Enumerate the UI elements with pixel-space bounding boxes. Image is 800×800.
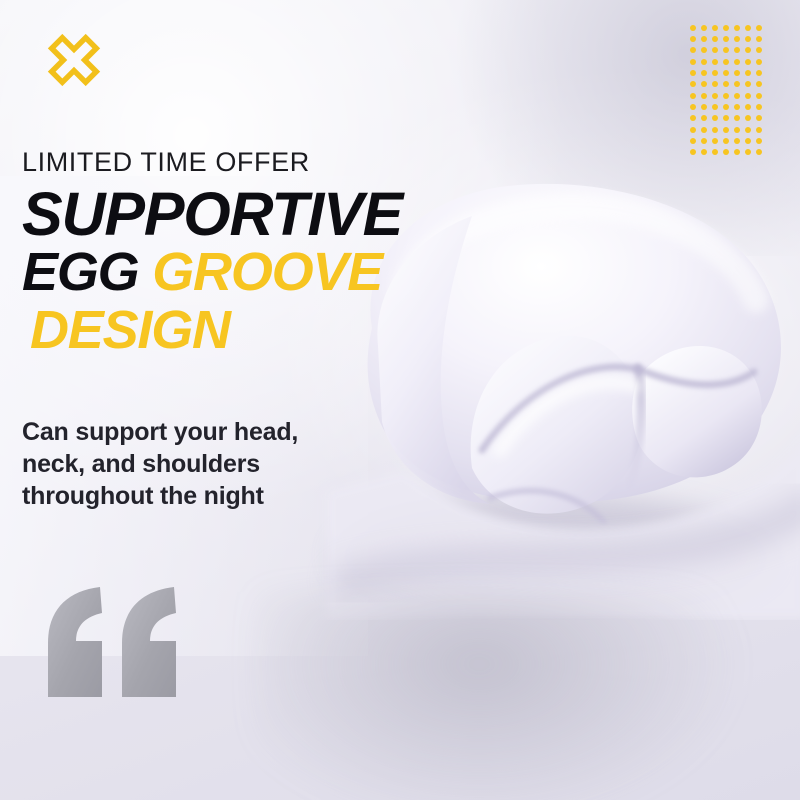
body-copy-text: Can support your head, neck, and shoulde…: [22, 417, 342, 512]
headline-line-3: DESIGN: [22, 304, 492, 357]
headline-block: LIMITED TIME OFFER SUPPORTIVE EGG GROOVE…: [22, 148, 492, 357]
dot-grid-icon: [688, 22, 764, 158]
headline-word-egg: EGG: [22, 242, 138, 302]
eyebrow-text: LIMITED TIME OFFER: [22, 148, 492, 178]
headline-line-2: EGG GROOVE: [22, 246, 492, 299]
headline-word-groove: GROOVE: [152, 242, 382, 302]
page-title: SUPPORTIVE EGG GROOVE DESIGN: [22, 184, 492, 357]
bottom-shadow: [256, 592, 752, 800]
quotation-mark-icon: [44, 585, 184, 700]
promo-poster: LIMITED TIME OFFER SUPPORTIVE EGG GROOVE…: [0, 0, 800, 800]
x-cross-outline-icon: [46, 32, 102, 88]
headline-line-1: SUPPORTIVE: [22, 184, 492, 244]
